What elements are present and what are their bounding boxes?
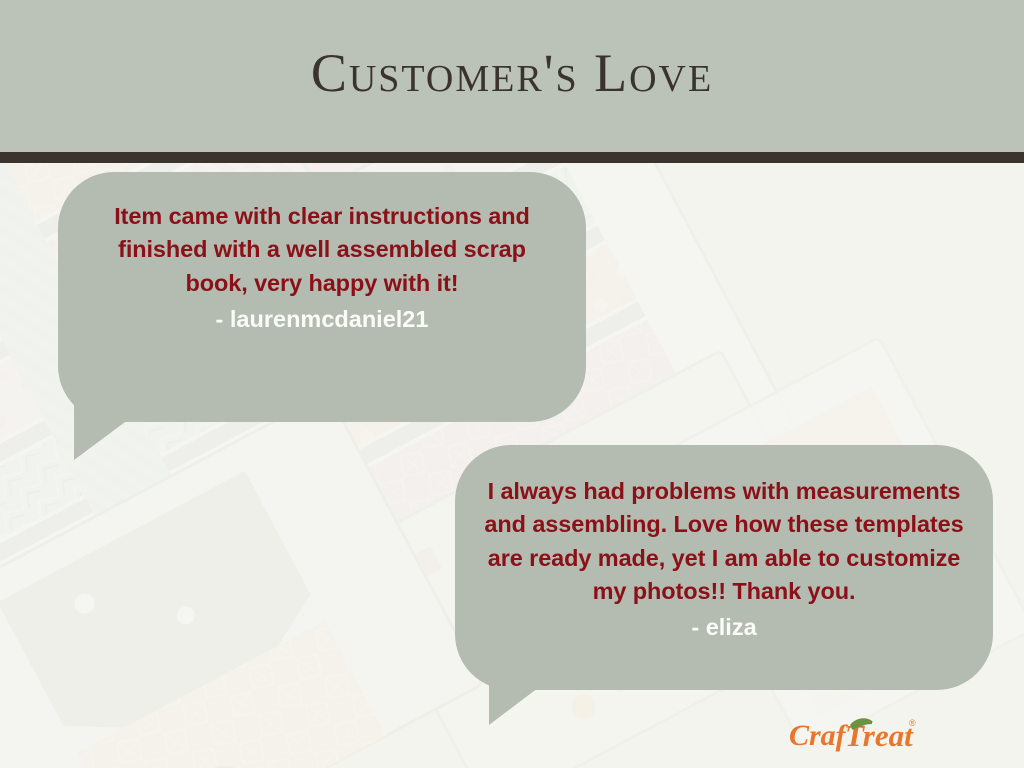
testimonial-slide: Customer's Love Item came with clear ins… bbox=[0, 0, 1024, 768]
testimonial-author-2: - eliza bbox=[477, 612, 971, 644]
page-title: Customer's Love bbox=[0, 0, 1024, 152]
testimonial-bubble-2: I always had problems with measurements … bbox=[455, 445, 993, 690]
speech-bubble-tail-1 bbox=[74, 396, 160, 460]
testimonial-bubble-1: Item came with clear instructions and fi… bbox=[58, 172, 586, 422]
header-divider-rule bbox=[0, 152, 1024, 163]
logo-trademark: ® bbox=[909, 718, 916, 728]
craftreat-logo-svg: Craf Treat ® bbox=[789, 712, 924, 760]
testimonial-quote-2: I always had problems with measurements … bbox=[477, 475, 971, 608]
craftreat-logo: Craf Treat ® bbox=[789, 712, 924, 760]
header-bar: Customer's Love bbox=[0, 0, 1024, 152]
speech-bubble-tail-2 bbox=[489, 663, 571, 725]
testimonial-quote-1: Item came with clear instructions and fi… bbox=[84, 200, 560, 300]
logo-text-craf: Craf bbox=[789, 719, 849, 752]
testimonial-author-1: - laurenmcdaniel21 bbox=[84, 304, 560, 336]
